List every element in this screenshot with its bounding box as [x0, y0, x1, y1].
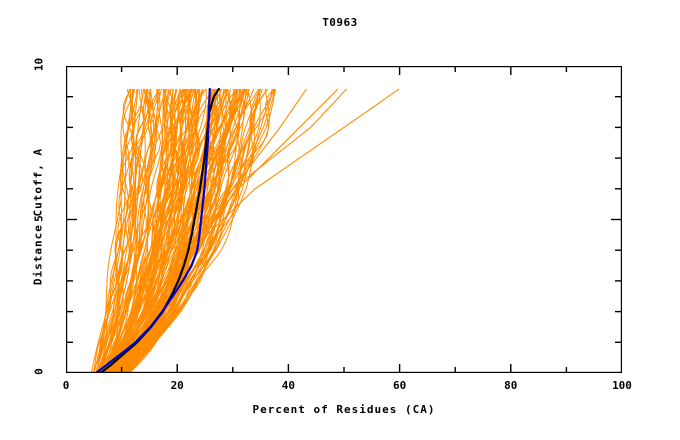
y-tick-label: 0	[33, 357, 46, 387]
y-tick-label: 5	[33, 203, 46, 233]
x-tick-label: 80	[491, 379, 531, 392]
chart-root: T0963 Percent of Residues (CA) Distance …	[0, 0, 680, 440]
x-tick-label: 60	[380, 379, 420, 392]
x-tick-label: 20	[157, 379, 197, 392]
plot-svg	[66, 66, 622, 373]
x-tick-label: 40	[268, 379, 308, 392]
x-tick-label: 100	[602, 379, 642, 392]
page-title: T0963	[0, 16, 680, 29]
x-tick-label: 0	[46, 379, 86, 392]
y-tick-label: 10	[33, 50, 46, 80]
x-axis-label: Percent of Residues (CA)	[66, 403, 622, 416]
plot-area	[66, 66, 622, 373]
